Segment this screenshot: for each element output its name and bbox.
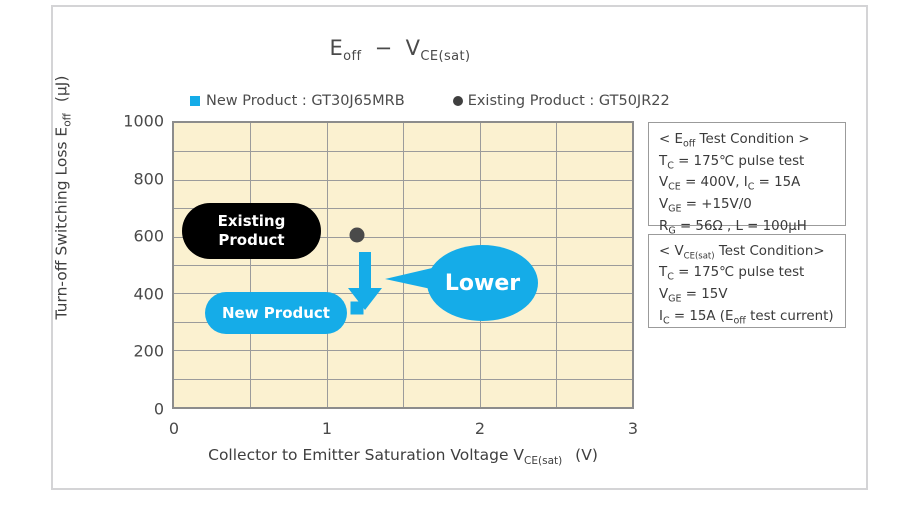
y-tick-400: 400 [104,284,164,303]
down-arrow-icon [347,252,383,310]
x-axis-label-unit: (V) [567,446,598,464]
y-axis-label-unit: (μJ) [52,76,70,109]
info-box-eoff-line-2: VCE = 400V, IC = 15A [659,173,836,195]
title-eoff-sub: off [343,49,361,64]
y-axis-label: Turn-off Switching Loss Eoff (μJ) [52,48,73,348]
x-tick-1: 1 [307,419,347,438]
annotation-existing-product[interactable]: Existing Product [182,203,321,259]
annotation-new-product-label: New Product [222,304,330,323]
info-box-vce-line-1: TC = 175℃ pulse test [659,263,836,285]
x-tick-3: 3 [613,419,653,438]
y-tick-800: 800 [104,169,164,188]
annotation-existing-line1: Existing [218,212,286,231]
y-axis-ticks: 1000 800 600 400 200 0 [100,121,164,409]
eoff-heading-post: Test Condition > [695,132,809,147]
annotation-existing-line2: Product [218,231,286,250]
annotation-new-product[interactable]: New Product [205,292,347,334]
info-box-vce-test-condition: < VCE(sat) Test Condition> TC = 175℃ pul… [648,234,846,328]
legend-item-new-product: New Product : GT30J65MRB [190,93,405,109]
info-box-eoff-line-3: VGE = +15V/0 [659,195,836,217]
vce-heading-pre: < V [659,244,684,259]
info-box-eoff-line-1: TC = 175℃ pulse test [659,152,836,174]
info-box-eoff-test-condition: < Eoff Test Condition > TC = 175℃ pulse … [648,122,846,226]
x-axis-label-main: Collector to Emitter Saturation Voltage … [208,446,524,464]
info-box-vce-line-3: IC = 15A (Eoff test current) [659,307,836,329]
annotation-lower-label: Lower [445,271,520,296]
vce-heading-sub: CE(sat) [684,252,715,262]
x-tick-0: 0 [154,419,194,438]
x-axis-label: Collector to Emitter Saturation Voltage … [172,446,634,467]
chart-legend: New Product : GT30J65MRB Existing Produc… [178,90,648,112]
eoff-heading-pre: < E [659,132,683,147]
y-axis-label-sub: off [62,113,74,127]
x-axis-ticks: 0 1 2 3 [172,419,634,441]
eoff-heading-sub: off [683,139,695,150]
gridline-horizontal [174,350,632,351]
info-box-vce-line-2: VGE = 15V [659,285,836,307]
x-tick-2: 2 [460,419,500,438]
y-tick-600: 600 [104,227,164,246]
info-box-eoff-heading: < Eoff Test Condition > [659,130,836,152]
data-point-existing-product[interactable] [350,228,365,243]
legend-label-new-product: New Product : GT30J65MRB [206,93,405,109]
circle-marker-icon [453,96,463,106]
gridline-horizontal [174,151,632,152]
legend-item-existing-product: Existing Product : GT50JR22 [453,93,670,109]
x-axis-label-sub: CE(sat) [524,455,562,467]
gridline-horizontal [174,379,632,380]
y-axis-label-main: Turn-off Switching Loss E [52,127,70,320]
annotation-lower-bubble[interactable]: Lower [427,245,538,321]
legend-label-existing-product: Existing Product : GT50JR22 [468,93,670,109]
title-vce-sub: CE(sat) [420,49,470,64]
chart-title: Eoff − VCE(sat) [160,36,640,64]
vce-heading-post: Test Condition> [715,244,825,259]
title-dash: − [369,36,399,60]
title-eoff: E [330,36,344,60]
gridline-horizontal [174,180,632,181]
y-tick-1000: 1000 [104,112,164,131]
square-marker-icon [190,96,200,106]
info-box-vce-heading: < VCE(sat) Test Condition> [659,242,836,263]
title-vce: V [406,36,421,60]
chart-root: Eoff − VCE(sat) New Product : GT30J65MRB… [0,0,900,506]
y-tick-0: 0 [104,400,164,419]
y-tick-200: 200 [104,342,164,361]
